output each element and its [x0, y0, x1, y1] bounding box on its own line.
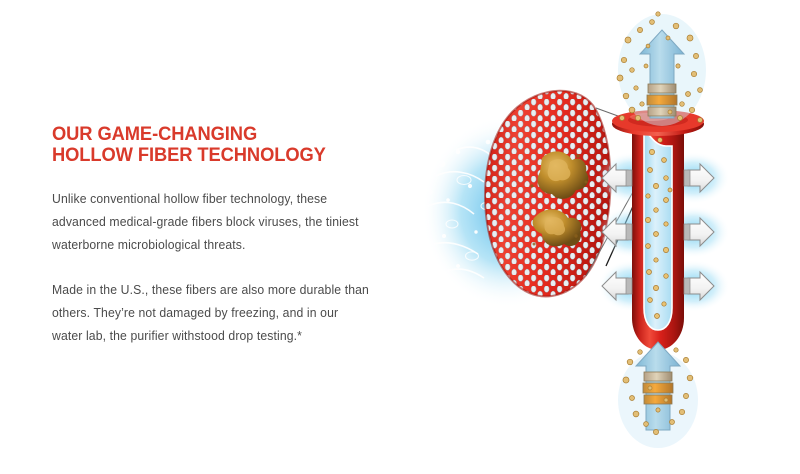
hollow-fiber-illustration [400, 0, 800, 474]
dirty-water-inlet-arrow [618, 342, 698, 448]
page-title: OUR GAME-CHANGING HOLLOW FIBER TECHNOLOG… [52, 124, 362, 166]
clean-water-outlet-arrow [617, 12, 706, 126]
page-root: OUR GAME-CHANGING HOLLOW FIBER TECHNOLOG… [0, 0, 800, 474]
illustration-svg [400, 0, 800, 474]
text-column: OUR GAME-CHANGING HOLLOW FIBER TECHNOLOG… [52, 124, 382, 348]
body-paragraph-2: Made in the U.S., these fibers are also … [52, 279, 372, 348]
body-paragraph-1: Unlike conventional hollow fiber technol… [52, 188, 372, 257]
